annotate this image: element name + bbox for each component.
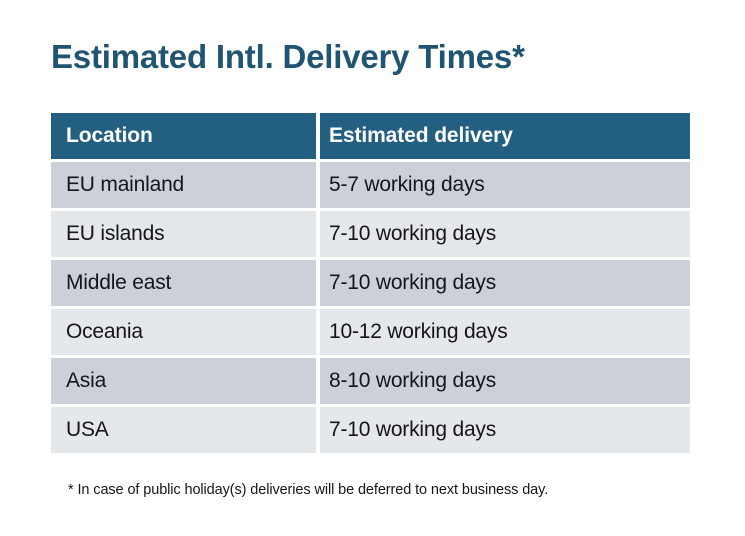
page-title: Estimated Intl. Delivery Times* [51, 36, 525, 78]
column-header-estimated-delivery: Estimated delivery [320, 113, 690, 159]
cell-estimated-delivery: 10-12 working days [320, 309, 690, 355]
table-row: EU mainland 5-7 working days [51, 162, 690, 208]
cell-location: EU islands [51, 211, 316, 257]
cell-estimated-delivery: 8-10 working days [320, 358, 690, 404]
table-row: Middle east 7-10 working days [51, 260, 690, 306]
cell-estimated-delivery: 5-7 working days [320, 162, 690, 208]
column-header-location: Location [51, 113, 316, 159]
table-header-row: Location Estimated delivery [51, 113, 690, 159]
table-row: EU islands 7-10 working days [51, 211, 690, 257]
footnote-text: * In case of public holiday(s) deliverie… [68, 482, 548, 498]
cell-estimated-delivery: 7-10 working days [320, 211, 690, 257]
table-row: USA 7-10 working days [51, 407, 690, 453]
delivery-times-table: Location Estimated delivery EU mainland … [51, 113, 690, 456]
cell-location: USA [51, 407, 316, 453]
table-row: Asia 8-10 working days [51, 358, 690, 404]
cell-estimated-delivery: 7-10 working days [320, 260, 690, 306]
document-page: Estimated Intl. Delivery Times* Location… [0, 0, 745, 536]
cell-estimated-delivery: 7-10 working days [320, 407, 690, 453]
cell-location: Asia [51, 358, 316, 404]
cell-location: Middle east [51, 260, 316, 306]
table-row: Oceania 10-12 working days [51, 309, 690, 355]
cell-location: EU mainland [51, 162, 316, 208]
cell-location: Oceania [51, 309, 316, 355]
